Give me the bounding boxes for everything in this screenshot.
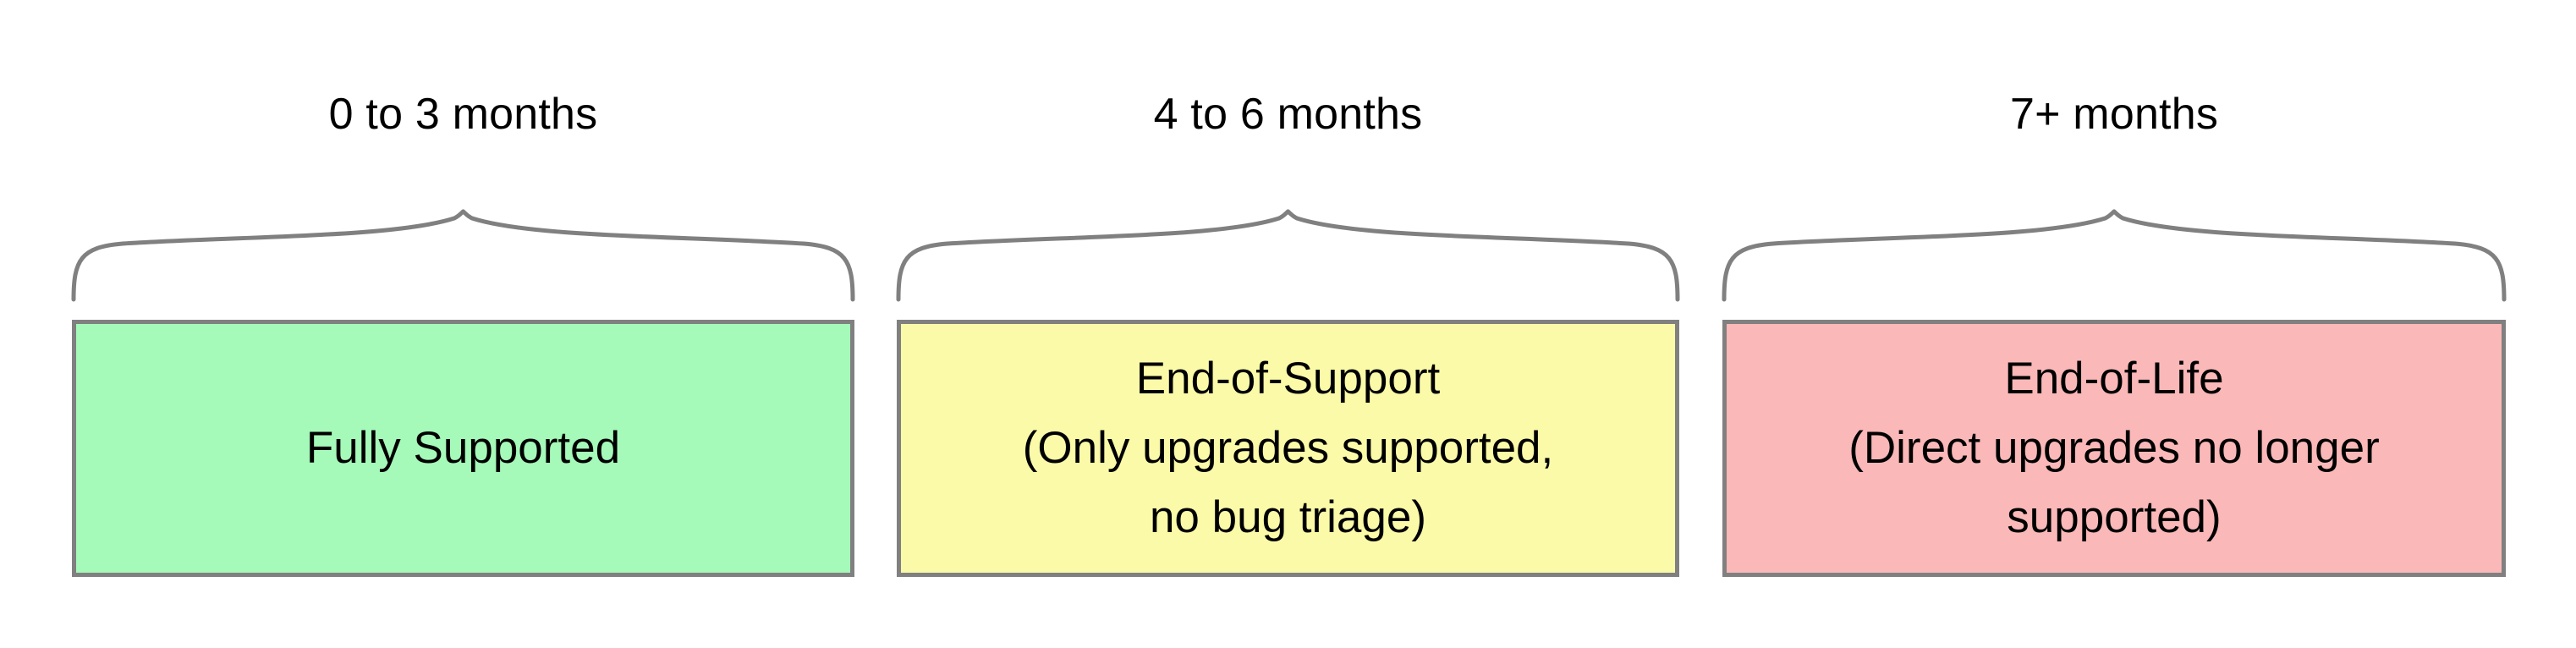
curly-brace-icon: [897, 210, 1679, 301]
stage-box-text-end-of-life: End-of-Life (Direct upgrades no longer s…: [1840, 344, 2388, 552]
curly-brace-fully-supported: [72, 210, 854, 301]
stage-box-end-of-life: End-of-Life (Direct upgrades no longer s…: [1722, 320, 2506, 577]
curly-brace-end-of-support: [897, 210, 1679, 301]
lifecycle-diagram: 0 to 3 months Fully Supported 4 to 6 mon…: [0, 0, 2576, 648]
lifecycle-stage-fully-supported: 0 to 3 months Fully Supported: [72, 0, 854, 648]
stage-box-text-end-of-support: End-of-Support (Only upgrades supported,…: [1014, 344, 1563, 552]
lifecycle-stage-end-of-support: 4 to 6 months End-of-Support (Only upgra…: [897, 0, 1679, 648]
period-label-fully-supported: 0 to 3 months: [72, 88, 854, 140]
curly-brace-icon: [1722, 210, 2506, 301]
stage-box-fully-supported: Fully Supported: [72, 320, 854, 577]
lifecycle-stage-end-of-life: 7+ months End-of-Life (Direct upgrades n…: [1722, 0, 2506, 648]
stage-box-text-fully-supported: Fully Supported: [298, 414, 629, 483]
stage-box-end-of-support: End-of-Support (Only upgrades supported,…: [897, 320, 1679, 577]
curly-brace-end-of-life: [1722, 210, 2506, 301]
period-label-end-of-support: 4 to 6 months: [897, 88, 1679, 140]
curly-brace-icon: [72, 210, 854, 301]
period-label-end-of-life: 7+ months: [1722, 88, 2506, 140]
